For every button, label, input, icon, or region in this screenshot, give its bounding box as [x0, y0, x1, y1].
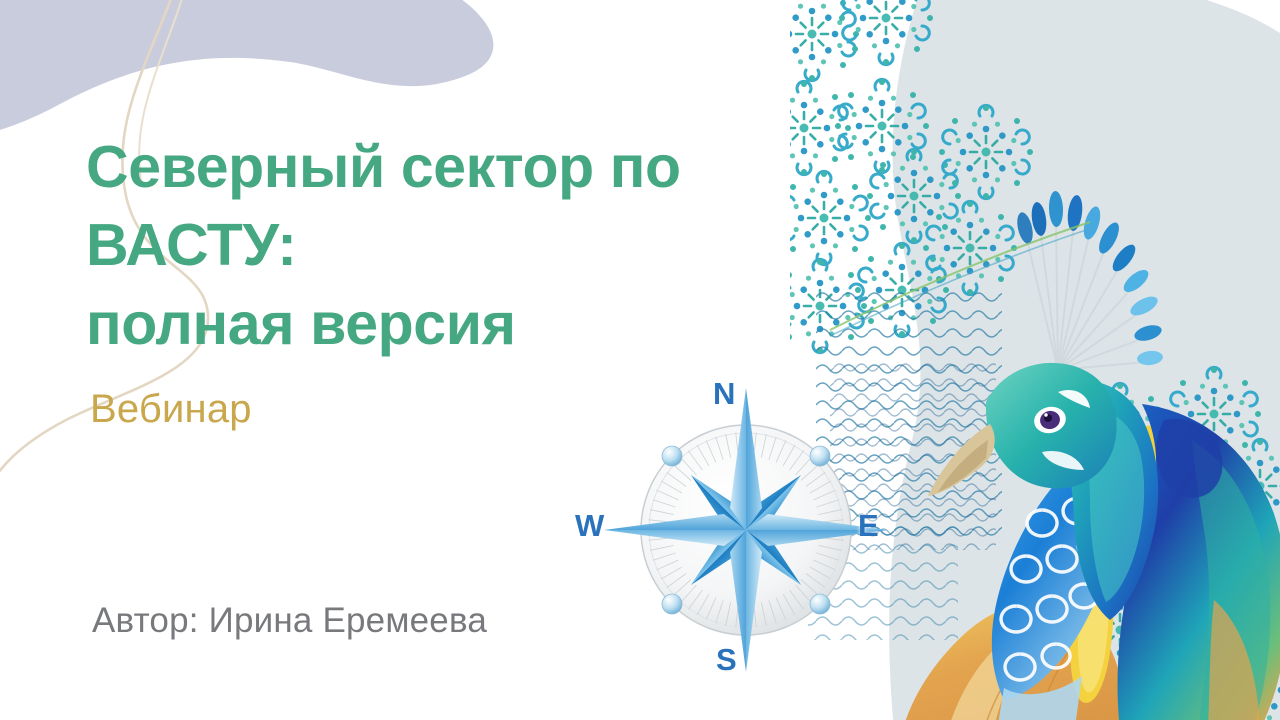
compass-label-east: E	[858, 510, 879, 541]
title-slide: N S W E Северный сектор по ВАСТУ: полная…	[0, 0, 1280, 720]
slide-author: Автор: Ирина Еремеева	[92, 600, 487, 642]
slide-title: Северный сектор по ВАСТУ: полная версия	[86, 128, 776, 363]
compass-rose: N S W E	[596, 372, 896, 682]
compass-cardinal-points	[604, 388, 888, 672]
compass-label-west: W	[575, 510, 604, 541]
slide-subtitle: Вебинар	[90, 385, 252, 433]
compass-label-south: S	[716, 644, 737, 675]
compass-label-north: N	[713, 378, 735, 409]
